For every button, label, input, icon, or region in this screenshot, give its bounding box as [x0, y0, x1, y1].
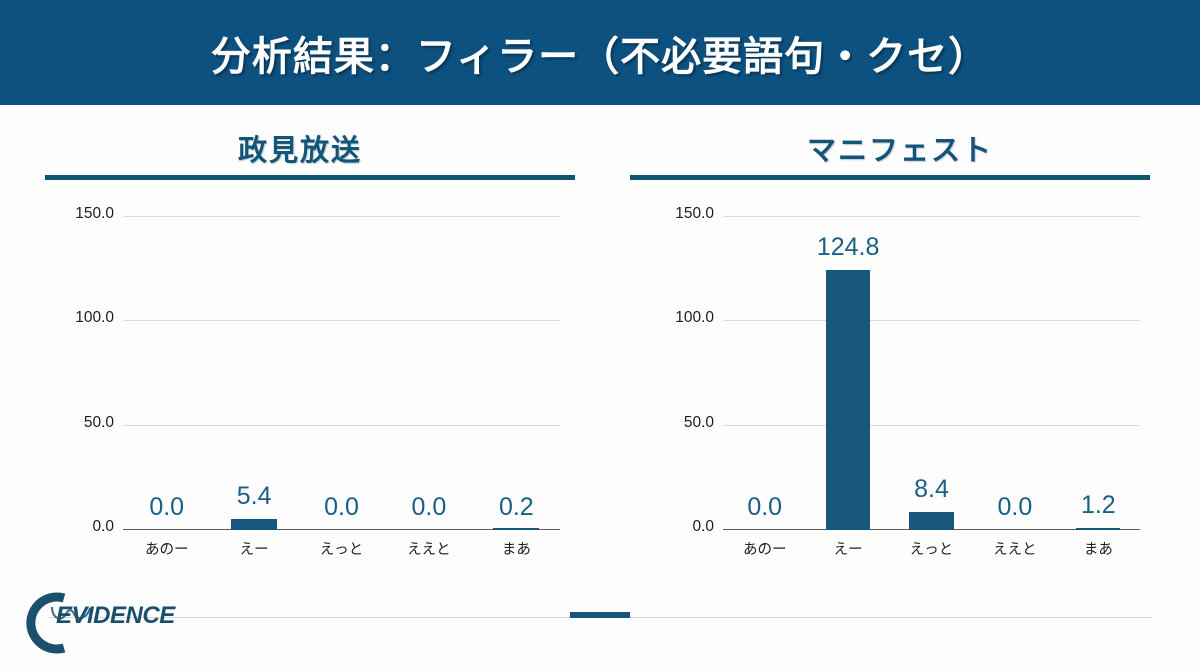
bar-slot[interactable]: 1.2まあ	[1057, 217, 1140, 530]
y-axis-tick-label: 50.0	[84, 414, 114, 432]
bar-value-label: 0.0	[385, 493, 472, 522]
bar[interactable]	[231, 519, 277, 530]
bar-value-label: 124.8	[806, 233, 889, 262]
bar-value-label: 0.0	[973, 493, 1056, 522]
x-axis-category-label: ええと	[385, 538, 472, 559]
bar-series: 0.0あのー124.8えー8.4えっと0.0ええと1.2まあ	[723, 217, 1140, 530]
bar-value-label: 5.4	[210, 482, 297, 511]
bar[interactable]	[826, 270, 870, 530]
chart-title-right: マニフェスト	[600, 127, 1200, 169]
y-axis-tick-label: 150.0	[675, 205, 714, 223]
bar-slot[interactable]: 124.8えー	[806, 217, 889, 530]
bar-value-label: 0.0	[298, 493, 385, 522]
chart-title-underline-left	[45, 175, 575, 180]
bar-series: 0.0あのー5.4えー0.0えっと0.0ええと0.2まあ	[123, 217, 560, 530]
chart-panel-manifesto: マニフェスト 150.0100.050.00.00.0あのー124.8えー8.4…	[600, 105, 1200, 605]
x-axis-category-label: えー	[210, 538, 297, 559]
y-axis-tick-label: 50.0	[684, 414, 714, 432]
slide-root: 分析結果：フィラー（不必要語句・クセ） 政見放送 150.0100.050.00…	[0, 0, 1200, 672]
bar-value-label: 8.4	[890, 475, 973, 504]
y-axis-tick-label: 100.0	[675, 309, 714, 327]
logo-wordmark: EVIDENCE	[56, 602, 175, 630]
plot-inner-right: 150.0100.050.00.00.0あのー124.8えー8.4えっと0.0え…	[723, 217, 1140, 530]
x-axis-category-label: ええと	[973, 538, 1056, 559]
plot-inner-left: 150.0100.050.00.00.0あのー5.4えー0.0えっと0.0ええと…	[123, 217, 560, 530]
bar-slot[interactable]: 5.4えー	[210, 217, 297, 530]
y-axis-tick-label: 0.0	[692, 518, 714, 536]
y-axis-tick-label: 150.0	[75, 205, 114, 223]
x-axis-category-label: まあ	[473, 538, 560, 559]
x-axis-category-label: あのー	[123, 538, 210, 559]
chart-title-underline-right	[630, 175, 1150, 180]
bar-value-label: 1.2	[1057, 491, 1140, 520]
slide-progress-marker	[570, 612, 630, 618]
bar-slot[interactable]: 0.0あのー	[723, 217, 806, 530]
bar[interactable]	[1076, 528, 1120, 531]
x-axis-category-label: えっと	[298, 538, 385, 559]
bar-value-label: 0.0	[723, 493, 806, 522]
x-axis-category-label: えー	[806, 538, 889, 559]
y-axis-tick-label: 0.0	[92, 518, 114, 536]
bar[interactable]	[493, 528, 539, 530]
bar-slot[interactable]: 0.0えっと	[298, 217, 385, 530]
x-axis-category-label: えっと	[890, 538, 973, 559]
bar-slot[interactable]: 0.2まあ	[473, 217, 560, 530]
chart-title-left: 政見放送	[0, 127, 600, 169]
chart-panel-seiken-hoso: 政見放送 150.0100.050.00.00.0あのー5.4えー0.0えっと0…	[0, 105, 600, 605]
evidence-logo: EVIDENCE	[18, 592, 208, 654]
bar-slot[interactable]: 0.0あのー	[123, 217, 210, 530]
charts-container: 政見放送 150.0100.050.00.00.0あのー5.4えー0.0えっと0…	[0, 105, 1200, 605]
plot-area-right: 150.0100.050.00.00.0あのー124.8えー8.4えっと0.0え…	[645, 205, 1150, 575]
page-title: 分析結果：フィラー（不必要語句・クセ）	[0, 0, 1200, 105]
plot-area-left: 150.0100.050.00.00.0あのー5.4えー0.0えっと0.0ええと…	[45, 205, 570, 575]
x-axis-category-label: まあ	[1057, 538, 1140, 559]
x-axis-category-label: あのー	[723, 538, 806, 559]
y-axis-tick-label: 100.0	[75, 309, 114, 327]
bar[interactable]	[909, 512, 953, 530]
bar-slot[interactable]: 0.0ええと	[385, 217, 472, 530]
bar-slot[interactable]: 0.0ええと	[973, 217, 1056, 530]
bar-value-label: 0.0	[123, 493, 210, 522]
bar-slot[interactable]: 8.4えっと	[890, 217, 973, 530]
bar-value-label: 0.2	[473, 493, 560, 522]
